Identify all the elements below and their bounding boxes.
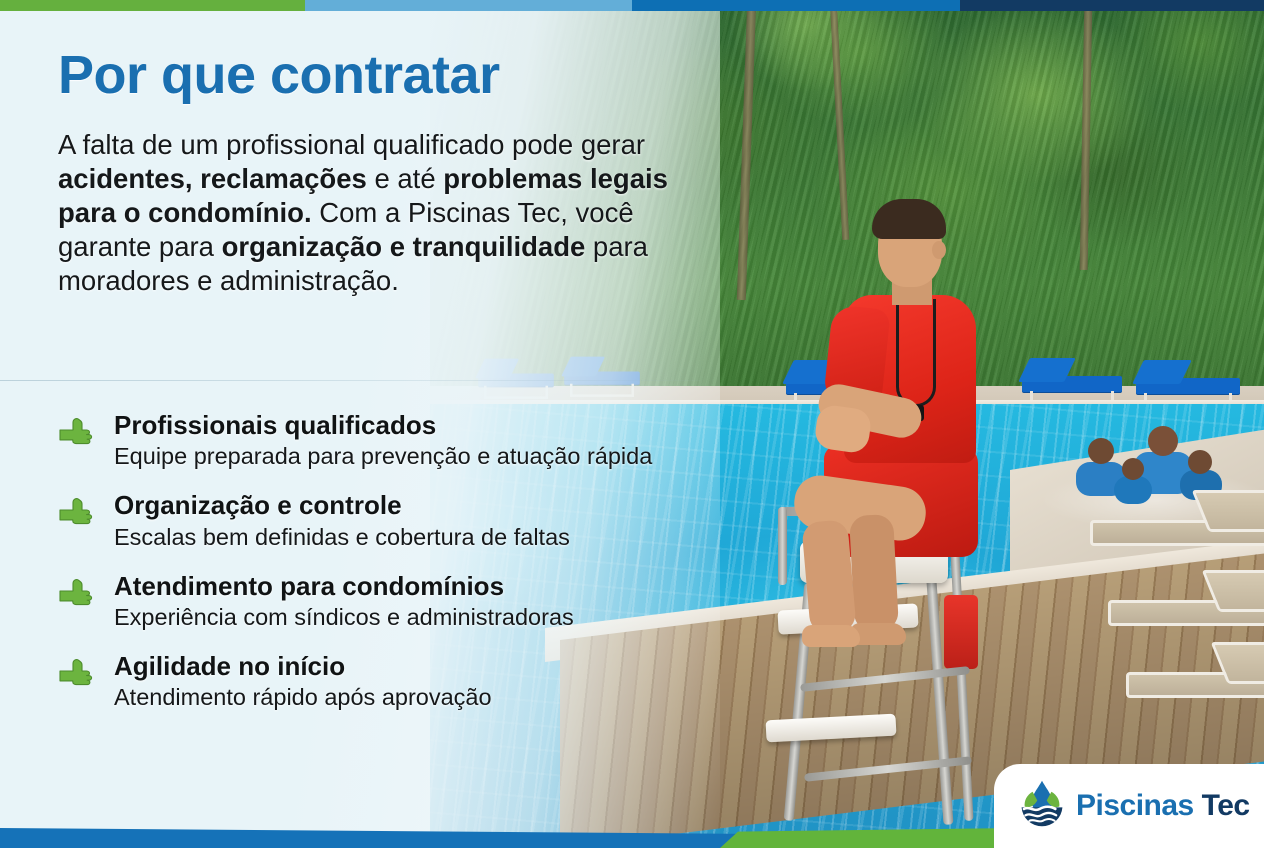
foreground-lounge-chair [1126,672,1264,698]
content-area: Por que contratar A falta de um profissi… [0,0,760,848]
pointing-right-hand-icon [58,657,102,691]
section-divider [0,380,700,381]
intro-text-2: e até [367,163,443,194]
benefit-title: Organização e controle [114,490,758,520]
bottombar-segment-blue [0,828,760,848]
topbar-segment-light-blue [305,0,632,11]
list-item: Agilidade no início Atendimento rápido a… [58,651,758,711]
top-color-bar [0,0,1264,11]
pointing-right-hand-icon [58,416,102,450]
topbar-segment-green [0,0,305,11]
intro-paragraph: A falta de um profissional qualificado p… [58,128,678,298]
list-item: Organização e controle Escalas bem defin… [58,490,758,550]
list-item: Profissionais qualificados Equipe prepar… [58,410,758,470]
benefit-title: Profissionais qualificados [114,410,758,440]
benefit-subtitle: Experiência com síndicos e administrador… [114,603,758,631]
brand-name: Piscinas Tec [1076,789,1250,823]
foreground-lounge-chair [1108,600,1264,626]
foreground-lounge-chair [1090,520,1264,546]
brand-logo: Piscinas Tec [994,764,1264,848]
pointing-right-hand-icon [58,577,102,611]
benefits-list: Profissionais qualificados Equipe prepar… [58,410,758,731]
poster: Por que contratar A falta de um profissi… [0,0,1264,848]
lounge-chair [1136,378,1240,394]
benefit-subtitle: Atendimento rápido após aprovação [114,683,758,711]
intro-text-1: A falta de um profissional qualificado p… [58,129,645,160]
benefit-title: Agilidade no início [114,651,758,681]
page-title: Por que contratar [58,48,500,102]
lifeguard-figure [800,195,1040,665]
brand-name-primary: Piscinas [1076,789,1194,822]
water-drop-leaf-icon [1020,779,1064,833]
pointing-right-hand-icon [58,496,102,530]
topbar-segment-medium-blue [632,0,960,11]
intro-bold-1: acidentes, reclamações [58,163,367,194]
intro-bold-3: organização e tranquilidade [222,231,586,262]
benefit-subtitle: Escalas bem definidas e cobertura de fal… [114,523,758,551]
brand-name-secondary: Tec [1202,789,1250,822]
list-item: Atendimento para condomínios Experiência… [58,571,758,631]
benefit-title: Atendimento para condomínios [114,571,758,601]
bottombar-segment-green [720,828,1020,848]
topbar-segment-dark-blue [960,0,1264,11]
benefit-subtitle: Equipe preparada para prevenção e atuaçã… [114,442,758,470]
